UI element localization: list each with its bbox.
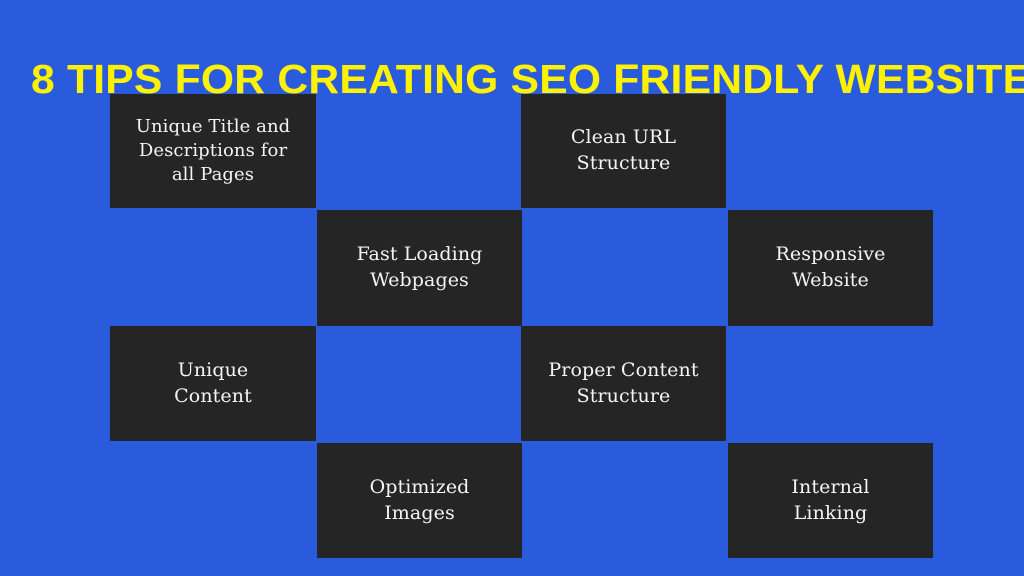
- tip-card-label: Internal Linking: [728, 475, 933, 526]
- tip-card-label: Responsive Website: [728, 242, 933, 293]
- tips-grid: Unique Title and Descriptions for all Pa…: [0, 0, 1024, 576]
- tip-card-label: Unique Content: [110, 358, 316, 409]
- tip-card-label: Unique Title and Descriptions for all Pa…: [110, 115, 316, 186]
- tip-card-responsive-website: Responsive Website: [728, 210, 933, 326]
- tip-card-label: Fast Loading Webpages: [317, 242, 522, 293]
- tip-card-label: Proper Content Structure: [521, 358, 726, 409]
- tip-card-internal-linking: Internal Linking: [728, 443, 933, 558]
- tip-card-optimized-images: Optimized Images: [317, 443, 522, 558]
- tip-card-label: Clean URL Structure: [521, 125, 726, 176]
- tip-card-unique-content: Unique Content: [110, 326, 316, 441]
- infographic-slide: 8 TIPS FOR CREATING SEO FRIENDLY WEBSITE…: [0, 0, 1024, 576]
- tip-card-unique-title-and-descriptions: Unique Title and Descriptions for all Pa…: [110, 94, 316, 208]
- tip-card-clean-url-structure: Clean URL Structure: [521, 94, 726, 208]
- tip-card-label: Optimized Images: [317, 475, 522, 526]
- tip-card-fast-loading-webpages: Fast Loading Webpages: [317, 210, 522, 326]
- tip-card-proper-content-structure: Proper Content Structure: [521, 326, 726, 441]
